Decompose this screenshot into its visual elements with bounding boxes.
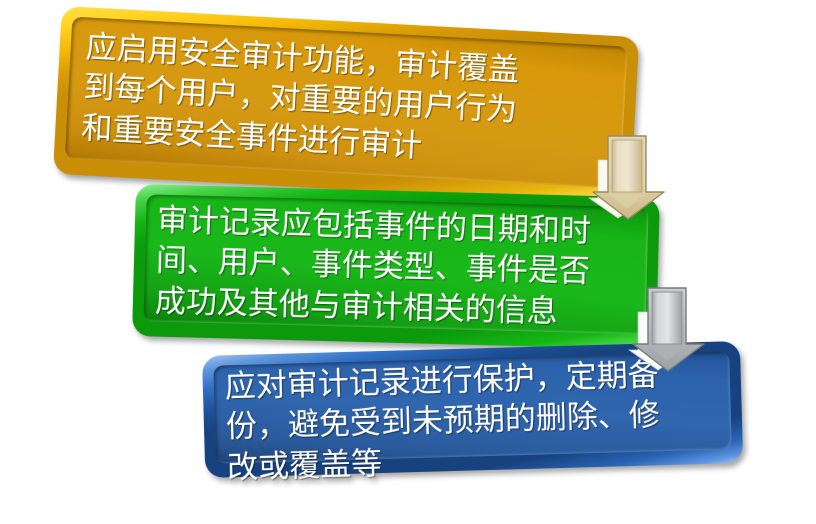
down-arrow-icon-connector-2 [628, 282, 712, 372]
step-1-inner-fill [65, 17, 628, 189]
process-step-2-green-box[interactable]: 审计记录应包括事件的日期和时 间、用户、事件类型、事件是否 成功及其他与审计相关… [132, 184, 660, 350]
diagram-canvas: 应启用安全审计功能，审计覆盖 到每个用户，对重要的用户行为 和重要安全事件进行审… [0, 0, 816, 524]
down-arrow-icon-connector-1 [588, 130, 672, 220]
step-2-inner-fill [143, 194, 648, 334]
process-step-1-gold-box[interactable]: 应启用安全审计功能，审计覆盖 到每个用户，对重要的用户行为 和重要安全事件进行审… [53, 6, 639, 205]
